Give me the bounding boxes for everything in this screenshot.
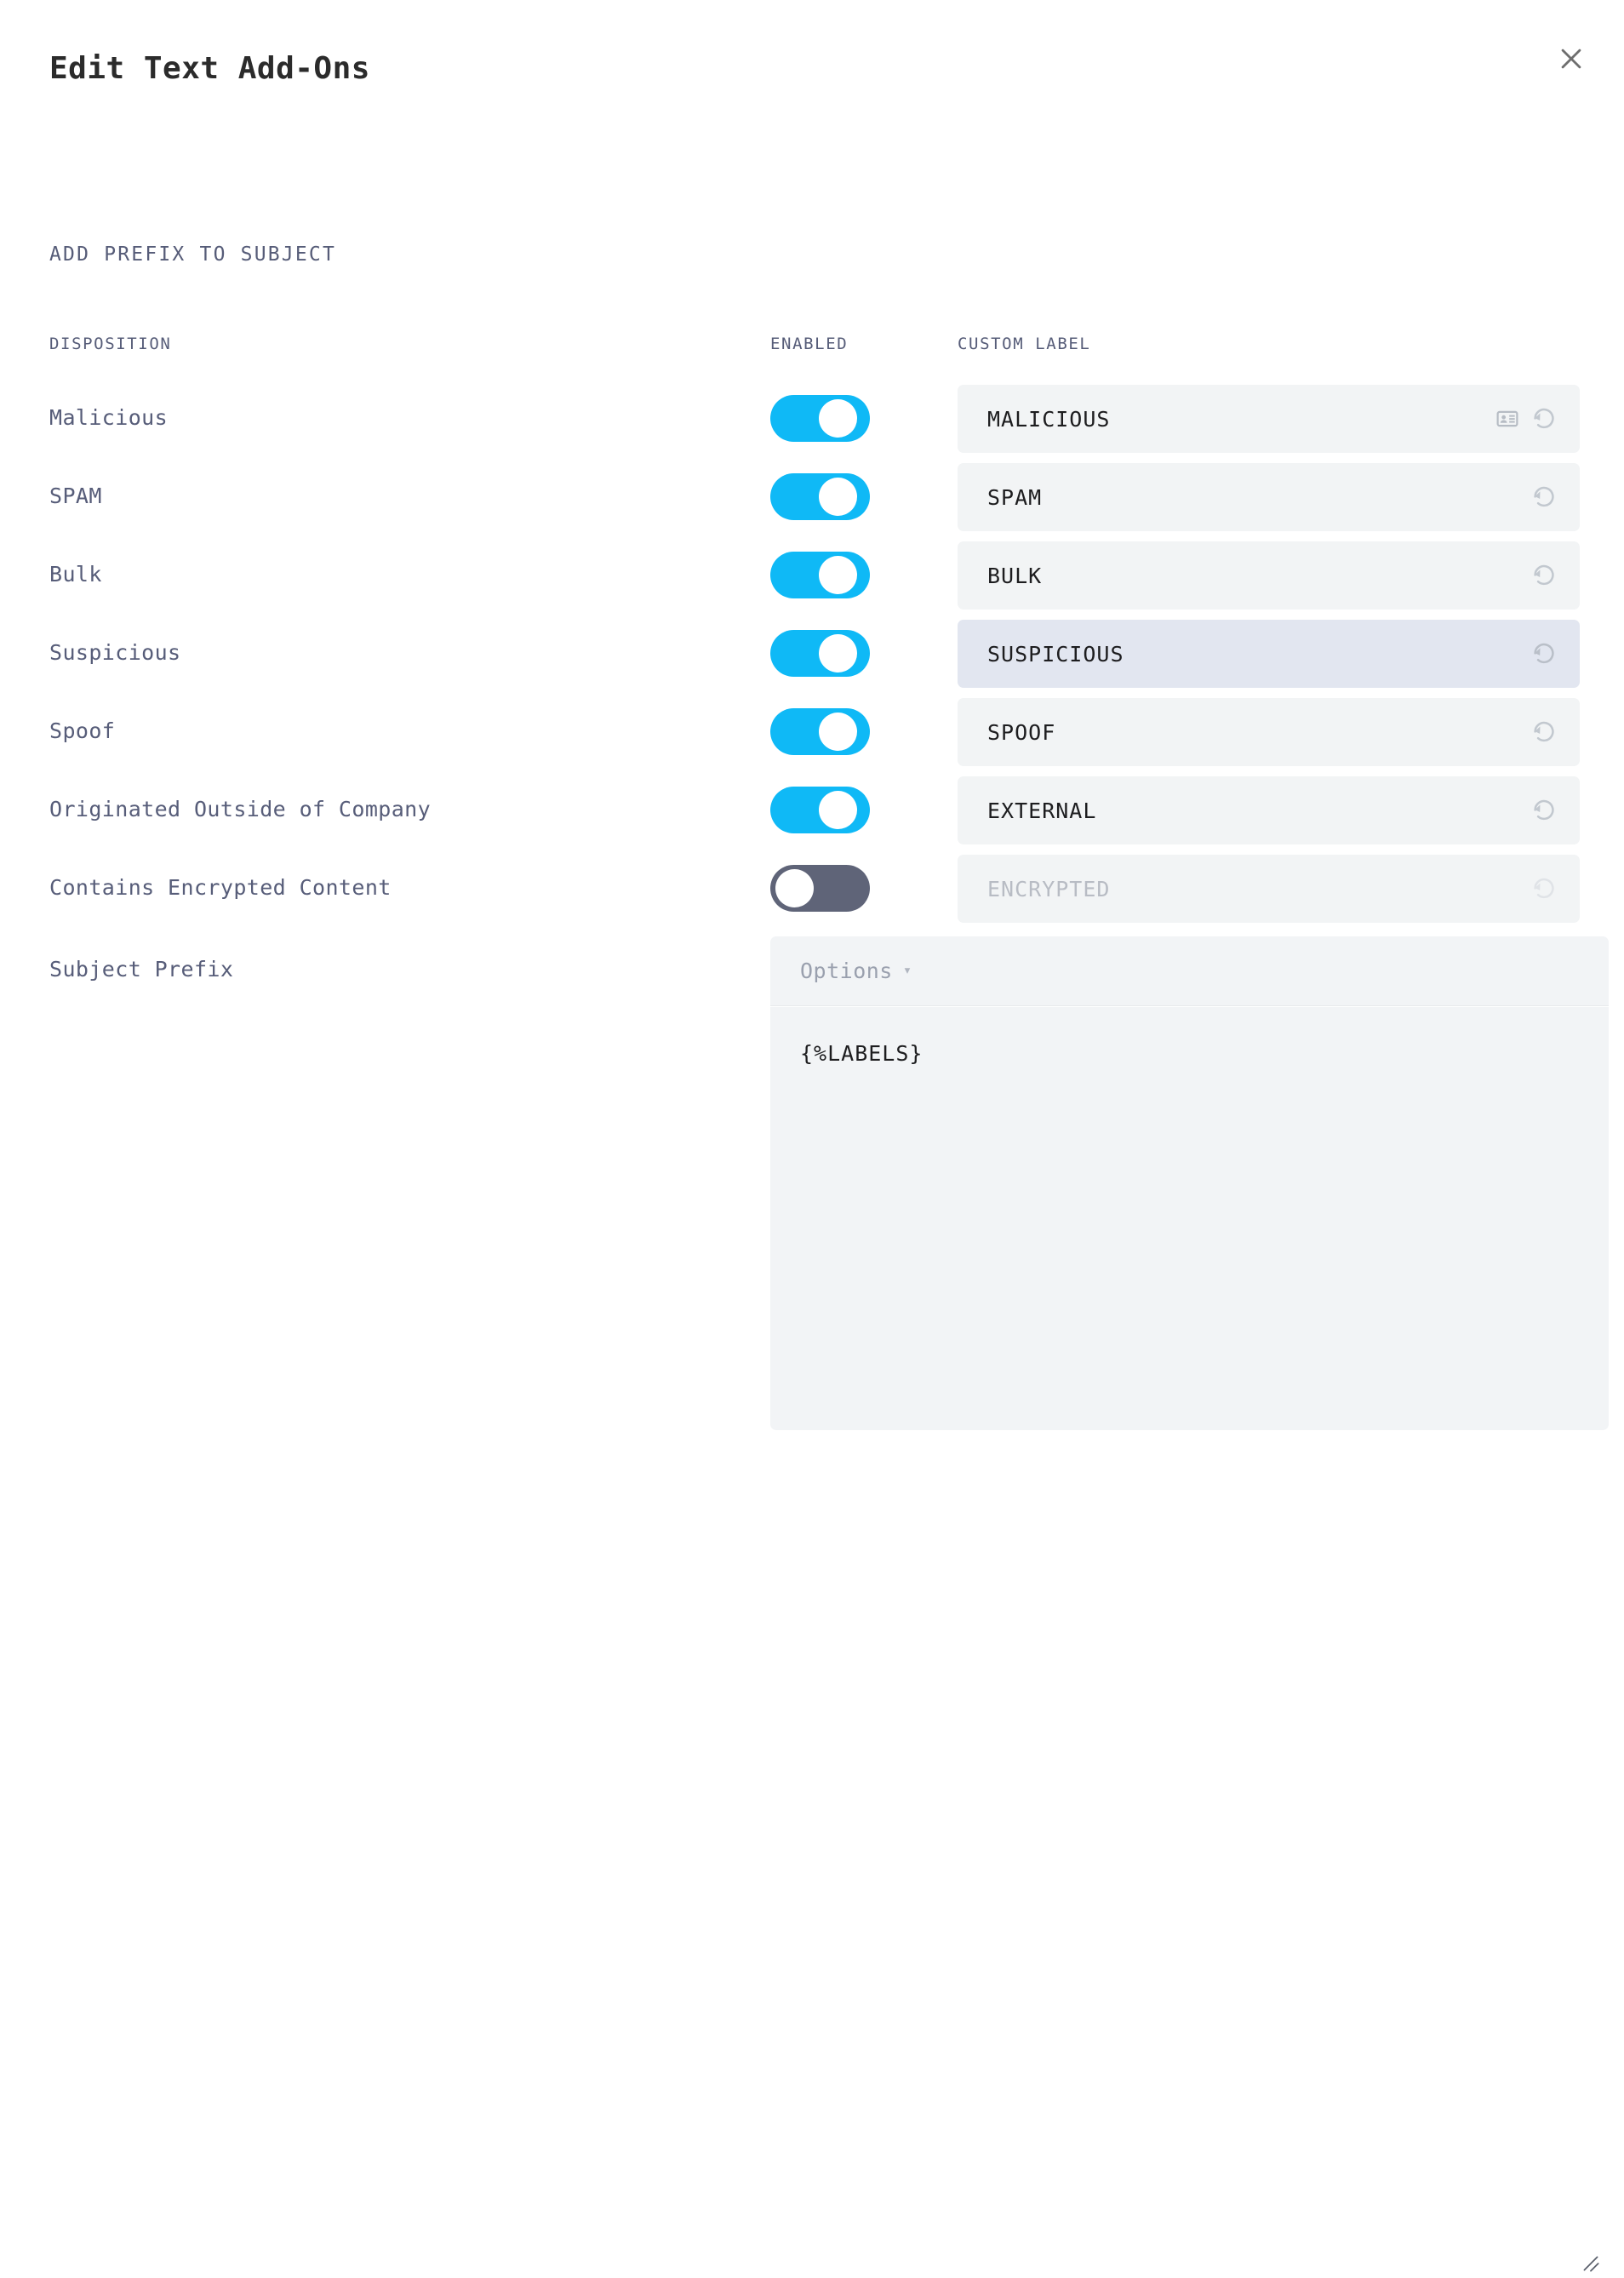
close-button[interactable] xyxy=(1551,38,1592,79)
disposition-rows: Malicious MALICIOUS xyxy=(0,385,1624,933)
custom-label-value: EXTERNAL xyxy=(987,798,1096,823)
toggle-knob xyxy=(819,634,857,673)
table-row: Malicious MALICIOUS xyxy=(0,385,1624,463)
field-icons xyxy=(1530,640,1558,667)
page-title: Edit Text Add-Ons xyxy=(49,51,370,86)
reset-icon[interactable] xyxy=(1530,797,1558,824)
field-icons xyxy=(1530,484,1558,511)
toggle-knob xyxy=(819,478,857,516)
table-row: Originated Outside of Company EXTERNAL xyxy=(0,776,1624,855)
table-row: Bulk BULK xyxy=(0,541,1624,620)
options-dropdown[interactable]: Options ▾ xyxy=(770,936,1609,1006)
custom-label-value: SPAM xyxy=(987,485,1042,510)
reset-icon[interactable] xyxy=(1530,562,1558,589)
custom-label-input[interactable]: SPOOF xyxy=(958,698,1580,766)
column-header-disposition: DISPOSITION xyxy=(49,335,171,353)
custom-label-value: BULK xyxy=(987,564,1042,588)
contact-card-icon[interactable] xyxy=(1496,408,1518,430)
table-row: Suspicious SUSPICIOUS xyxy=(0,620,1624,698)
reset-icon xyxy=(1530,875,1558,902)
custom-label-input[interactable]: SPAM xyxy=(958,463,1580,531)
modal-header: Edit Text Add-Ons xyxy=(0,0,1624,128)
table-row: SPAM SPAM xyxy=(0,463,1624,541)
toggle-enabled[interactable] xyxy=(770,630,870,677)
custom-label-value: MALICIOUS xyxy=(987,407,1110,432)
toggle-knob xyxy=(819,791,857,829)
custom-label-value: ENCRYPTED xyxy=(987,877,1110,901)
toggle-enabled[interactable] xyxy=(770,708,870,755)
field-icons xyxy=(1530,718,1558,746)
toggle-knob xyxy=(819,713,857,751)
row-label-disposition: Originated Outside of Company xyxy=(49,797,431,821)
field-icons xyxy=(1530,875,1558,902)
row-label-disposition: Suspicious xyxy=(49,640,181,665)
row-label-disposition: SPAM xyxy=(49,484,102,508)
close-icon xyxy=(1557,44,1586,73)
reset-icon[interactable] xyxy=(1530,484,1558,511)
toggle-enabled[interactable] xyxy=(770,395,870,442)
row-label-disposition: Spoof xyxy=(49,718,115,743)
row-label-disposition: Malicious xyxy=(49,405,168,430)
field-icons xyxy=(1496,405,1558,432)
reset-icon[interactable] xyxy=(1530,718,1558,746)
chevron-down-icon: ▾ xyxy=(903,964,912,978)
toggle-knob xyxy=(775,869,814,907)
table-row: Contains Encrypted Content ENCRYPTED xyxy=(0,855,1624,933)
row-label-disposition: Contains Encrypted Content xyxy=(49,875,392,900)
toggle-knob xyxy=(819,556,857,594)
row-label-disposition: Bulk xyxy=(49,562,102,587)
options-dropdown-label: Options xyxy=(800,959,893,983)
toggle-enabled[interactable] xyxy=(770,473,870,520)
toggle-enabled[interactable] xyxy=(770,787,870,833)
custom-label-input[interactable]: MALICIOUS xyxy=(958,385,1580,453)
field-icons xyxy=(1530,562,1558,589)
field-icons xyxy=(1530,797,1558,824)
custom-label-input[interactable]: EXTERNAL xyxy=(958,776,1580,844)
custom-label-value: SUSPICIOUS xyxy=(987,642,1124,667)
custom-label-input[interactable]: SUSPICIOUS xyxy=(958,620,1580,688)
custom-label-input: ENCRYPTED xyxy=(958,855,1580,923)
toggle-knob xyxy=(819,399,857,438)
section-title: ADD PREFIX TO SUBJECT xyxy=(49,243,336,266)
toggle-enabled[interactable] xyxy=(770,865,870,912)
reset-icon[interactable] xyxy=(1530,405,1558,432)
custom-label-input[interactable]: BULK xyxy=(958,541,1580,610)
toggle-enabled[interactable] xyxy=(770,552,870,598)
column-header-custom-label: CUSTOM LABEL xyxy=(958,335,1090,353)
subject-prefix-textarea[interactable] xyxy=(770,1007,1609,1430)
column-header-enabled: ENABLED xyxy=(770,335,848,353)
resize-handle-icon[interactable] xyxy=(1580,2252,1602,2275)
custom-label-value: SPOOF xyxy=(987,720,1055,745)
table-row: Spoof SPOOF xyxy=(0,698,1624,776)
reset-icon[interactable] xyxy=(1530,640,1558,667)
subject-prefix-label: Subject Prefix xyxy=(49,957,233,982)
